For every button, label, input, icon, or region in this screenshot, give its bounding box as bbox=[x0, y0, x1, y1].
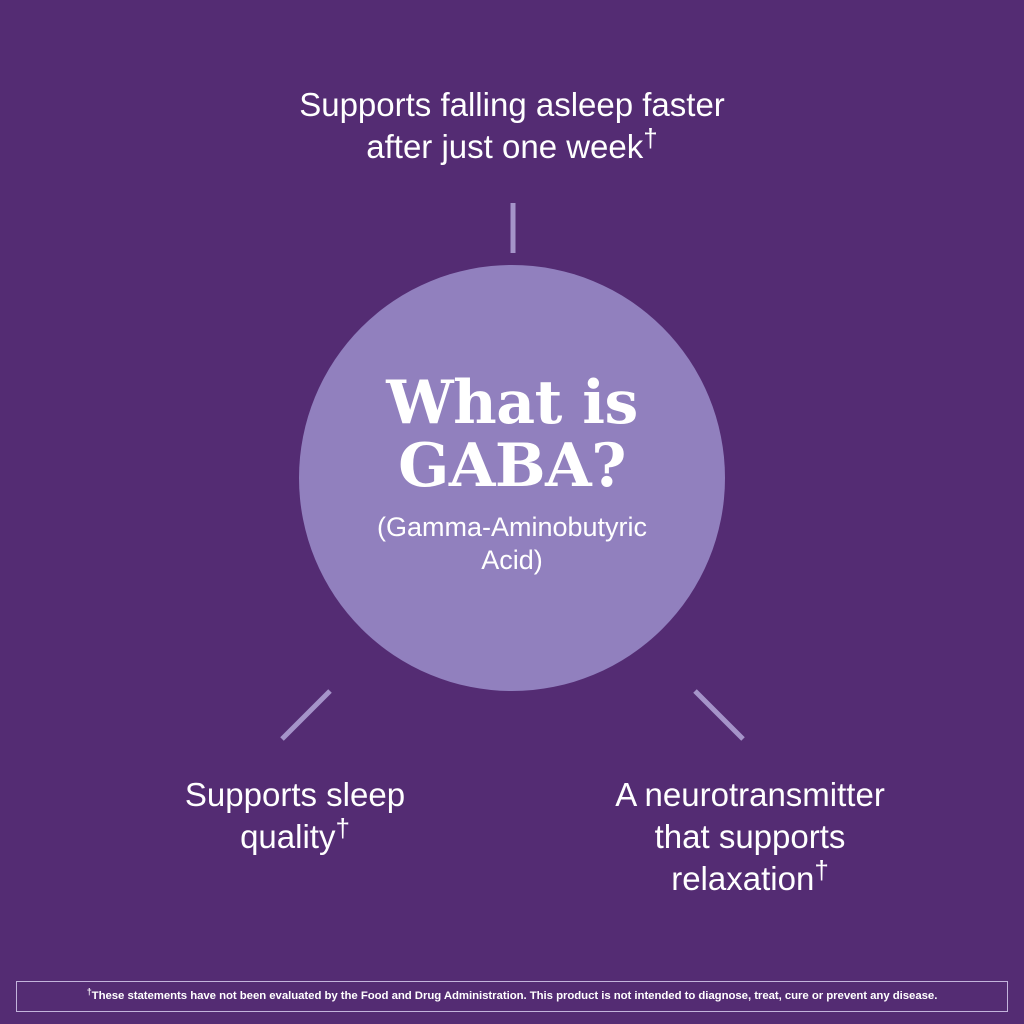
page-subtitle: (Gamma-Aminobutyric Acid) bbox=[362, 511, 662, 578]
connector-bottom-right-line bbox=[695, 691, 743, 739]
dagger-symbol: † bbox=[335, 813, 349, 843]
page-title: What is GABA? bbox=[386, 372, 638, 497]
center-circle: What is GABA? (Gamma-Aminobutyric Acid) bbox=[299, 265, 725, 691]
connector-bottom-left-line bbox=[282, 691, 330, 739]
claim-supports-falling-asleep: Supports falling asleep faster after jus… bbox=[162, 84, 862, 168]
claim-supports-sleep-quality: Supports sleep quality† bbox=[45, 774, 545, 858]
dagger-symbol: † bbox=[643, 123, 657, 153]
claim-bottom-left-text: Supports sleep quality bbox=[185, 776, 405, 855]
claim-neurotransmitter-relaxation: A neurotransmitter that supports relaxat… bbox=[496, 774, 1004, 900]
claim-top-text: Supports falling asleep faster after jus… bbox=[299, 86, 725, 165]
footer-disclaimer-text: †These statements have not been evaluate… bbox=[87, 990, 938, 1004]
footer-disclaimer-box: †These statements have not been evaluate… bbox=[16, 981, 1008, 1012]
footer-disclaimer-sentence: These statements have not been evaluated… bbox=[92, 990, 938, 1002]
claim-bottom-right-text: A neurotransmitter that supports relaxat… bbox=[615, 776, 885, 897]
gaba-infographic: Supports falling asleep faster after jus… bbox=[0, 0, 1024, 1024]
dagger-symbol: † bbox=[814, 855, 828, 885]
